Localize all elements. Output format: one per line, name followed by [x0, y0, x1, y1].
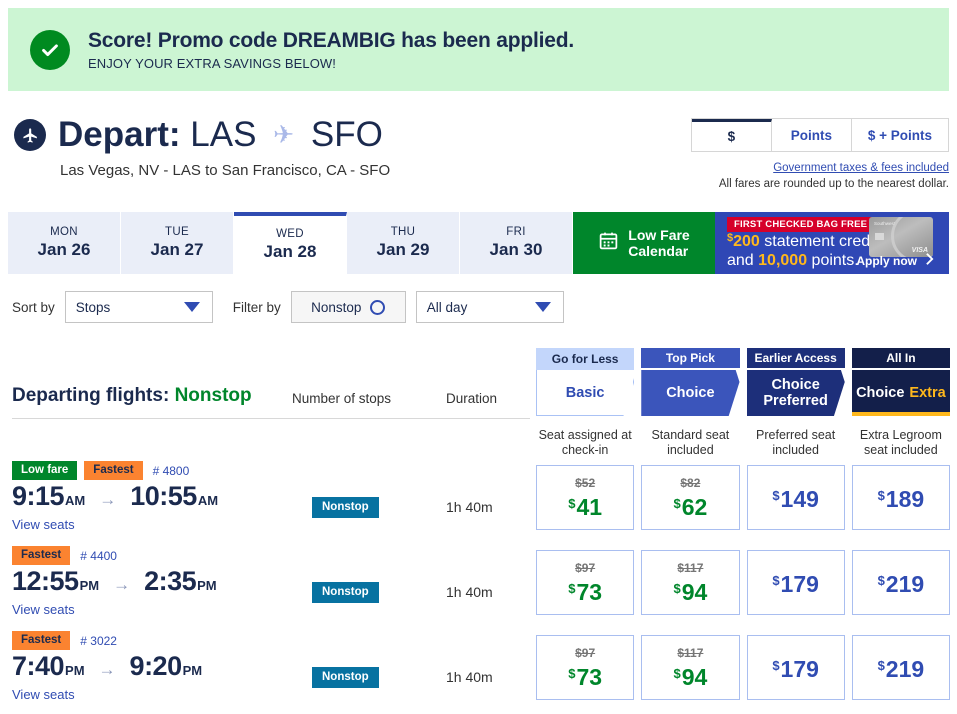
depart-label: Depart: [58, 115, 181, 154]
price-current: $179 [772, 568, 819, 597]
price-original: $97 [575, 646, 595, 660]
fees-note: All fares are rounded up to the nearest … [719, 178, 949, 190]
price-currency: $ [568, 581, 575, 596]
flight-duration: 1h 40m [446, 499, 493, 515]
promo-line2-rest: points. [812, 252, 859, 269]
flight-duration: 1h 40m [446, 584, 493, 600]
price-cell-choice-extra[interactable]: $219 [852, 635, 950, 700]
flight-times: 12:55 PM → 2:35 PM [12, 566, 217, 597]
depart-time: 7:40 [12, 651, 64, 682]
fare-class-tabs[interactable]: Go for Less Basic Top Pick Choice Earlie… [536, 348, 950, 416]
date-tab-fri[interactable]: FRI Jan 30 [460, 212, 573, 274]
chevron-right-icon [924, 252, 935, 269]
date-tab-thu[interactable]: THU Jan 29 [347, 212, 460, 274]
price-currency: $ [772, 573, 779, 588]
flight-number: # 3022 [80, 634, 117, 648]
arrive-meridiem: PM [197, 578, 217, 593]
fare-name-base: Choice [856, 385, 904, 401]
credit-card-promo-banner[interactable]: FIRST CHECKED BAG FREE $200 statement cr… [715, 212, 949, 274]
price-value: 149 [781, 486, 819, 512]
table-row[interactable]: Fastest # 3022 7:40 PM → 9:20 PM View se… [0, 625, 957, 710]
table-row[interactable]: Fastest # 4400 12:55 PM → 2:35 PM View s… [0, 540, 957, 625]
airplane-small-icon: ✈ [266, 121, 301, 149]
fare-tab-choice-extra[interactable]: All In Choice Extra [852, 348, 950, 416]
arrive-time: 10:55 [130, 481, 197, 512]
arrive-meridiem: PM [183, 663, 203, 678]
badge-fastest: Fastest [84, 461, 142, 480]
price-original: $117 [677, 561, 703, 575]
stops-badge: Nonstop [312, 667, 379, 688]
date-value: Jan 28 [264, 242, 317, 262]
arrow-right-icon: → [99, 660, 116, 680]
price-value: 94 [682, 664, 708, 690]
fare-name-accent: Extra [909, 385, 945, 401]
header-divider [12, 418, 530, 419]
fare-desc-basic: Seat assigned at check-in [536, 428, 634, 458]
currency-tab-dollars[interactable]: $ [692, 119, 772, 151]
price-original: $97 [575, 561, 595, 575]
currency-toggle[interactable]: $ Points $ + Points [691, 118, 949, 152]
price-cell-basic[interactable]: $52 $41 [536, 465, 634, 530]
price-currency: $ [673, 666, 680, 681]
flight-times: 9:15 AM → 10:55 AM [12, 481, 218, 512]
price-value: 179 [781, 656, 819, 682]
price-value: 179 [781, 571, 819, 597]
view-seats-link[interactable]: View seats [12, 517, 75, 532]
calendar-icon [598, 230, 619, 256]
arrive-meridiem: AM [198, 493, 218, 508]
row-badges: Fastest # 3022 [12, 631, 117, 650]
fare-ribbon-go-for-less: Go for Less [536, 348, 634, 370]
fare-desc-choice: Standard seat included [641, 428, 739, 458]
route-subtitle: Las Vegas, NV - LAS to San Francisco, CA… [60, 162, 390, 179]
row-badges: Low fare Fastest # 4800 [12, 461, 189, 480]
price-current: $149 [772, 483, 819, 512]
date-tab-tue[interactable]: TUE Jan 27 [121, 212, 234, 274]
check-circle-icon [30, 30, 70, 70]
low-fare-line2: Calendar [628, 243, 688, 259]
price-currency: $ [878, 488, 885, 503]
price-cells: $97 $73 $117 $94 $179 $219 [536, 635, 950, 700]
price-cell-choice-preferred[interactable]: $149 [747, 465, 845, 530]
card-chip [875, 233, 884, 240]
promo-line1-rest: statement credit [764, 233, 878, 250]
price-value: 62 [682, 494, 708, 520]
depart-time: 9:15 [12, 481, 64, 512]
promo-line2: and 10,000 points. [727, 252, 859, 270]
filter-nonstop-toggle[interactable]: Nonstop [291, 291, 406, 323]
fare-name-choice-extra: Choice Extra [852, 370, 950, 416]
circle-outline-icon [370, 300, 385, 315]
filter-time-value: All day [427, 300, 468, 315]
fare-desc-choice-extra: Extra Legroom seat included [852, 428, 950, 458]
low-fare-line1: Low Fare [628, 227, 689, 243]
flight-results-list: Low fare Fastest # 4800 9:15 AM → 10:55 … [0, 455, 957, 710]
depart-meridiem: PM [65, 663, 85, 678]
price-value: 219 [886, 571, 924, 597]
date-tab-mon[interactable]: MON Jan 26 [8, 212, 121, 274]
flight-number: # 4800 [153, 464, 190, 478]
price-current: $73 [568, 576, 602, 605]
arrive-time: 2:35 [144, 566, 196, 597]
date-value: Jan 26 [38, 240, 91, 260]
date-selector-strip[interactable]: MON Jan 26 TUE Jan 27 WED Jan 28 THU Jan… [8, 212, 949, 274]
price-currency: $ [673, 496, 680, 511]
depart-meridiem: PM [80, 578, 100, 593]
column-header-stops: Number of stops [292, 391, 391, 406]
promo-tag-bag-free: FIRST CHECKED BAG FREE [727, 217, 874, 232]
price-value: 189 [886, 486, 924, 512]
apply-now-label: Apply now [856, 254, 917, 268]
promo-points: 10,000 [758, 252, 807, 269]
price-cell-basic[interactable]: $97 $73 [536, 635, 634, 700]
price-current: $219 [878, 653, 925, 682]
chevron-down-icon [184, 302, 200, 312]
fare-tab-basic[interactable]: Go for Less Basic [536, 348, 634, 416]
stops-badge: Nonstop [312, 582, 379, 603]
arrow-right-icon: → [99, 490, 116, 510]
date-dow: FRI [506, 226, 525, 238]
flight-times: 7:40 PM → 9:20 PM [12, 651, 202, 682]
price-original: $52 [575, 476, 595, 490]
fare-desc-choice-preferred: Preferred seat included [747, 428, 845, 458]
low-fare-calendar-button[interactable]: Low Fare Calendar [573, 212, 715, 274]
fare-descriptions: Seat assigned at check-in Standard seat … [536, 428, 950, 458]
low-fare-calendar-label: Low Fare Calendar [628, 227, 689, 259]
promo-line2-prefix: and [727, 252, 754, 269]
badge-low-fare: Low fare [12, 461, 77, 480]
price-currency: $ [878, 658, 885, 673]
badge-fastest: Fastest [12, 631, 70, 650]
chevron-down-icon [535, 302, 551, 312]
price-current: $62 [673, 491, 707, 520]
price-cell-basic[interactable]: $97 $73 [536, 550, 634, 615]
view-seats-link[interactable]: View seats [12, 602, 75, 617]
depart-meridiem: AM [65, 493, 85, 508]
fare-name-choice-preferred: Choice Preferred [747, 370, 845, 416]
fare-ribbon-earlier-access: Earlier Access [747, 348, 845, 370]
fare-name-choice: Choice [641, 370, 739, 416]
price-current: $73 [568, 661, 602, 690]
price-cells: $97 $73 $117 $94 $179 $219 [536, 550, 950, 615]
price-currency: $ [772, 658, 779, 673]
sort-by-label: Sort by [12, 300, 55, 315]
price-value: 73 [576, 664, 602, 690]
filter-nonstop-label: Nonstop [311, 300, 361, 315]
price-currency: $ [568, 666, 575, 681]
arrow-right-icon: → [113, 575, 130, 595]
price-current: $41 [568, 491, 602, 520]
price-value: 41 [576, 494, 602, 520]
price-currency: $ [878, 573, 885, 588]
date-dow: TUE [165, 226, 189, 238]
arrive-time: 9:20 [130, 651, 182, 682]
page-title: Depart: LAS ✈ SFO [58, 116, 383, 154]
price-cell-choice[interactable]: $117 $94 [641, 635, 739, 700]
route-header: Depart: LAS ✈ SFO Las Vegas, NV - LAS to… [0, 108, 957, 196]
price-cell-choice-extra[interactable]: $219 [852, 550, 950, 615]
origin-code: LAS [190, 115, 256, 154]
fare-name-basic: Basic [536, 370, 634, 416]
view-seats-link[interactable]: View seats [12, 687, 75, 702]
promo-amount: 200 [733, 233, 760, 250]
depart-time: 12:55 [12, 566, 79, 597]
price-value: 94 [682, 579, 708, 605]
apply-now-button[interactable]: Apply now [856, 252, 935, 269]
price-cell-choice-preferred[interactable]: $179 [747, 550, 845, 615]
price-cell-choice-preferred[interactable]: $179 [747, 635, 845, 700]
price-current: $219 [878, 568, 925, 597]
column-header-duration: Duration [446, 391, 497, 406]
currency-tab-dollars-points[interactable]: $ + Points [852, 119, 948, 151]
date-dow: THU [391, 226, 416, 238]
credit-card-icon: Southwest VISA [869, 217, 933, 257]
filter-by-label: Filter by [233, 300, 281, 315]
promo-line1: $200 statement credit [727, 232, 878, 251]
fare-ribbon-all-in: All In [852, 348, 950, 370]
flight-number: # 4400 [80, 549, 117, 563]
stops-badge: Nonstop [312, 497, 379, 518]
price-current: $94 [673, 576, 707, 605]
departing-flights-prefix: Departing flights: [12, 385, 169, 406]
promo-subline: ENJOY YOUR EXTRA SAVINGS BELOW! [88, 56, 574, 71]
date-dow: WED [276, 228, 304, 240]
flight-duration: 1h 40m [446, 669, 493, 685]
promo-banner: Score! Promo code DREAMBIG has been appl… [8, 8, 949, 91]
fare-ribbon-top-pick: Top Pick [641, 348, 739, 370]
price-current: $94 [673, 661, 707, 690]
price-cell-choice[interactable]: $82 $62 [641, 465, 739, 530]
destination-code: SFO [311, 115, 383, 154]
row-badges: Fastest # 4400 [12, 546, 117, 565]
price-currency: $ [568, 496, 575, 511]
departing-flights-title: Departing flights: Nonstop [12, 385, 252, 407]
fare-tab-choice-preferred[interactable]: Earlier Access Choice Preferred [747, 348, 845, 416]
sort-by-value: Stops [76, 300, 111, 315]
date-tab-wed[interactable]: WED Jan 28 [234, 212, 347, 274]
price-cell-choice[interactable]: $117 $94 [641, 550, 739, 615]
government-fees-link[interactable]: Government taxes & fees included [773, 162, 949, 174]
table-row[interactable]: Low fare Fastest # 4800 9:15 AM → 10:55 … [0, 455, 957, 540]
date-dow: MON [50, 226, 78, 238]
price-cell-choice-extra[interactable]: $189 [852, 465, 950, 530]
fare-tab-choice[interactable]: Top Pick Choice [641, 348, 739, 416]
price-value: 219 [886, 656, 924, 682]
date-value: Jan 29 [377, 240, 430, 260]
badge-fastest: Fastest [12, 546, 70, 565]
currency-tab-points[interactable]: Points [772, 119, 852, 151]
date-value: Jan 27 [151, 240, 204, 260]
price-current: $189 [878, 483, 925, 512]
promo-headline: Score! Promo code DREAMBIG has been appl… [88, 28, 574, 53]
filter-time-select[interactable]: All day [416, 291, 564, 323]
sort-by-select[interactable]: Stops [65, 291, 213, 323]
price-original: $82 [680, 476, 700, 490]
departing-flights-value: Nonstop [175, 385, 252, 406]
price-value: 73 [576, 579, 602, 605]
price-currency: $ [673, 581, 680, 596]
date-value: Jan 30 [490, 240, 543, 260]
price-current: $179 [772, 653, 819, 682]
price-cells: $52 $41 $82 $62 $149 $189 [536, 465, 950, 530]
airplane-icon [14, 119, 46, 151]
price-original: $117 [677, 646, 703, 660]
results-header: Departing flights: Nonstop [12, 385, 252, 407]
price-currency: $ [772, 488, 779, 503]
filter-bar: Sort by Stops Filter by Nonstop All day [12, 291, 564, 323]
